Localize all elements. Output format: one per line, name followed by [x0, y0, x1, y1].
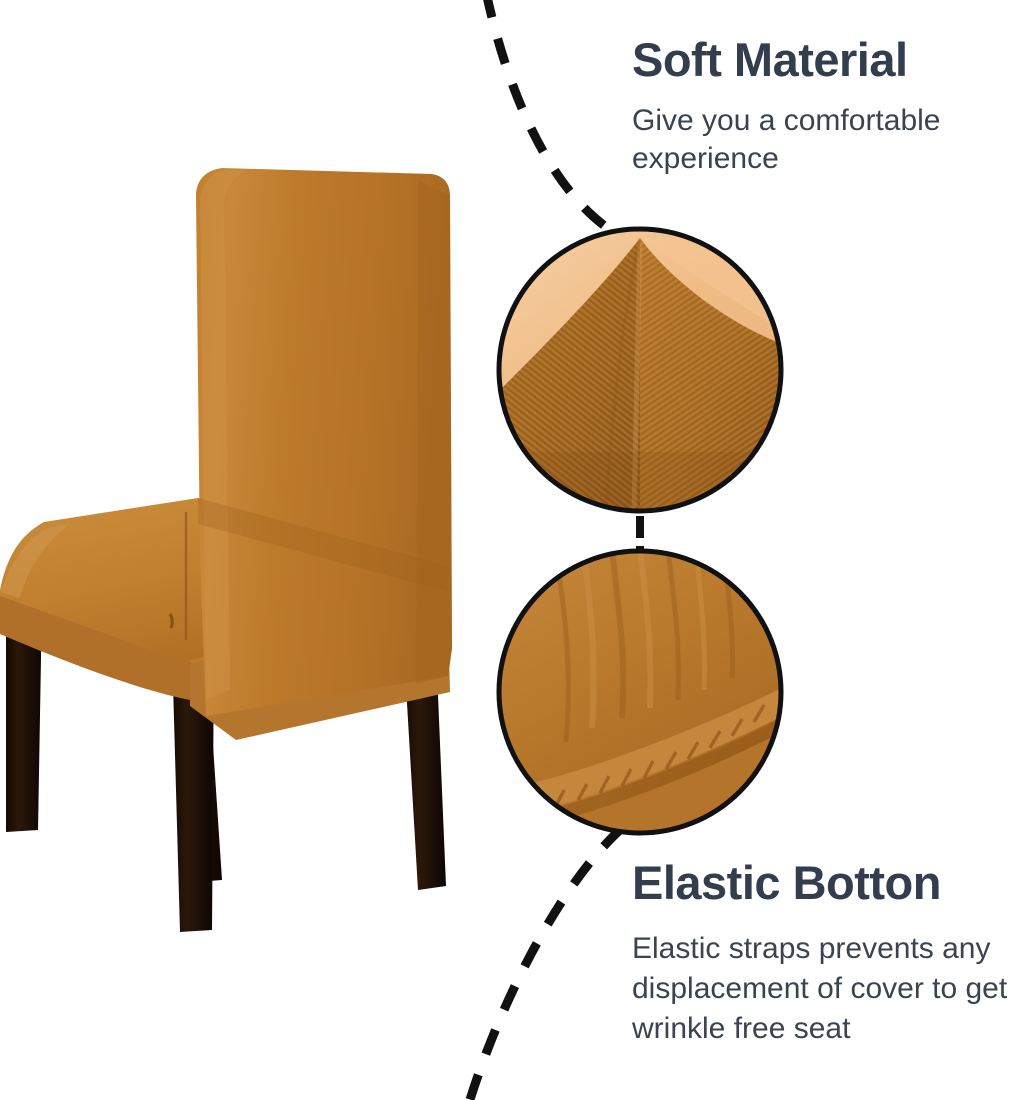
dashed-line-top [486, 0, 620, 236]
elastic-hem-closeup-circle [498, 550, 782, 838]
knit-fabric-closeup-circle [498, 228, 782, 512]
feature-heading-soft-material: Soft Material [632, 32, 1022, 88]
feature-heading-elastic-botton: Elastic Botton [632, 855, 1028, 911]
callout-dashed-lines [468, 0, 622, 1100]
feature-description-elastic-botton: Elastic straps prevents any displacement… [632, 911, 1028, 1049]
chair-back-shade [416, 180, 452, 684]
feature-block-soft-material: Soft Material Give you a comfortable exp… [632, 32, 1022, 178]
dashed-line-bottom [468, 828, 622, 1100]
product-feature-infographic: Soft Material Give you a comfortable exp… [0, 0, 1031, 1100]
chair-back-panel [196, 168, 452, 716]
chair-illustration [0, 168, 452, 932]
feature-description-soft-material: Give you a comfortable experience [632, 88, 1022, 178]
feature-block-elastic-botton: Elastic Botton Elastic straps prevents a… [632, 855, 1028, 1049]
